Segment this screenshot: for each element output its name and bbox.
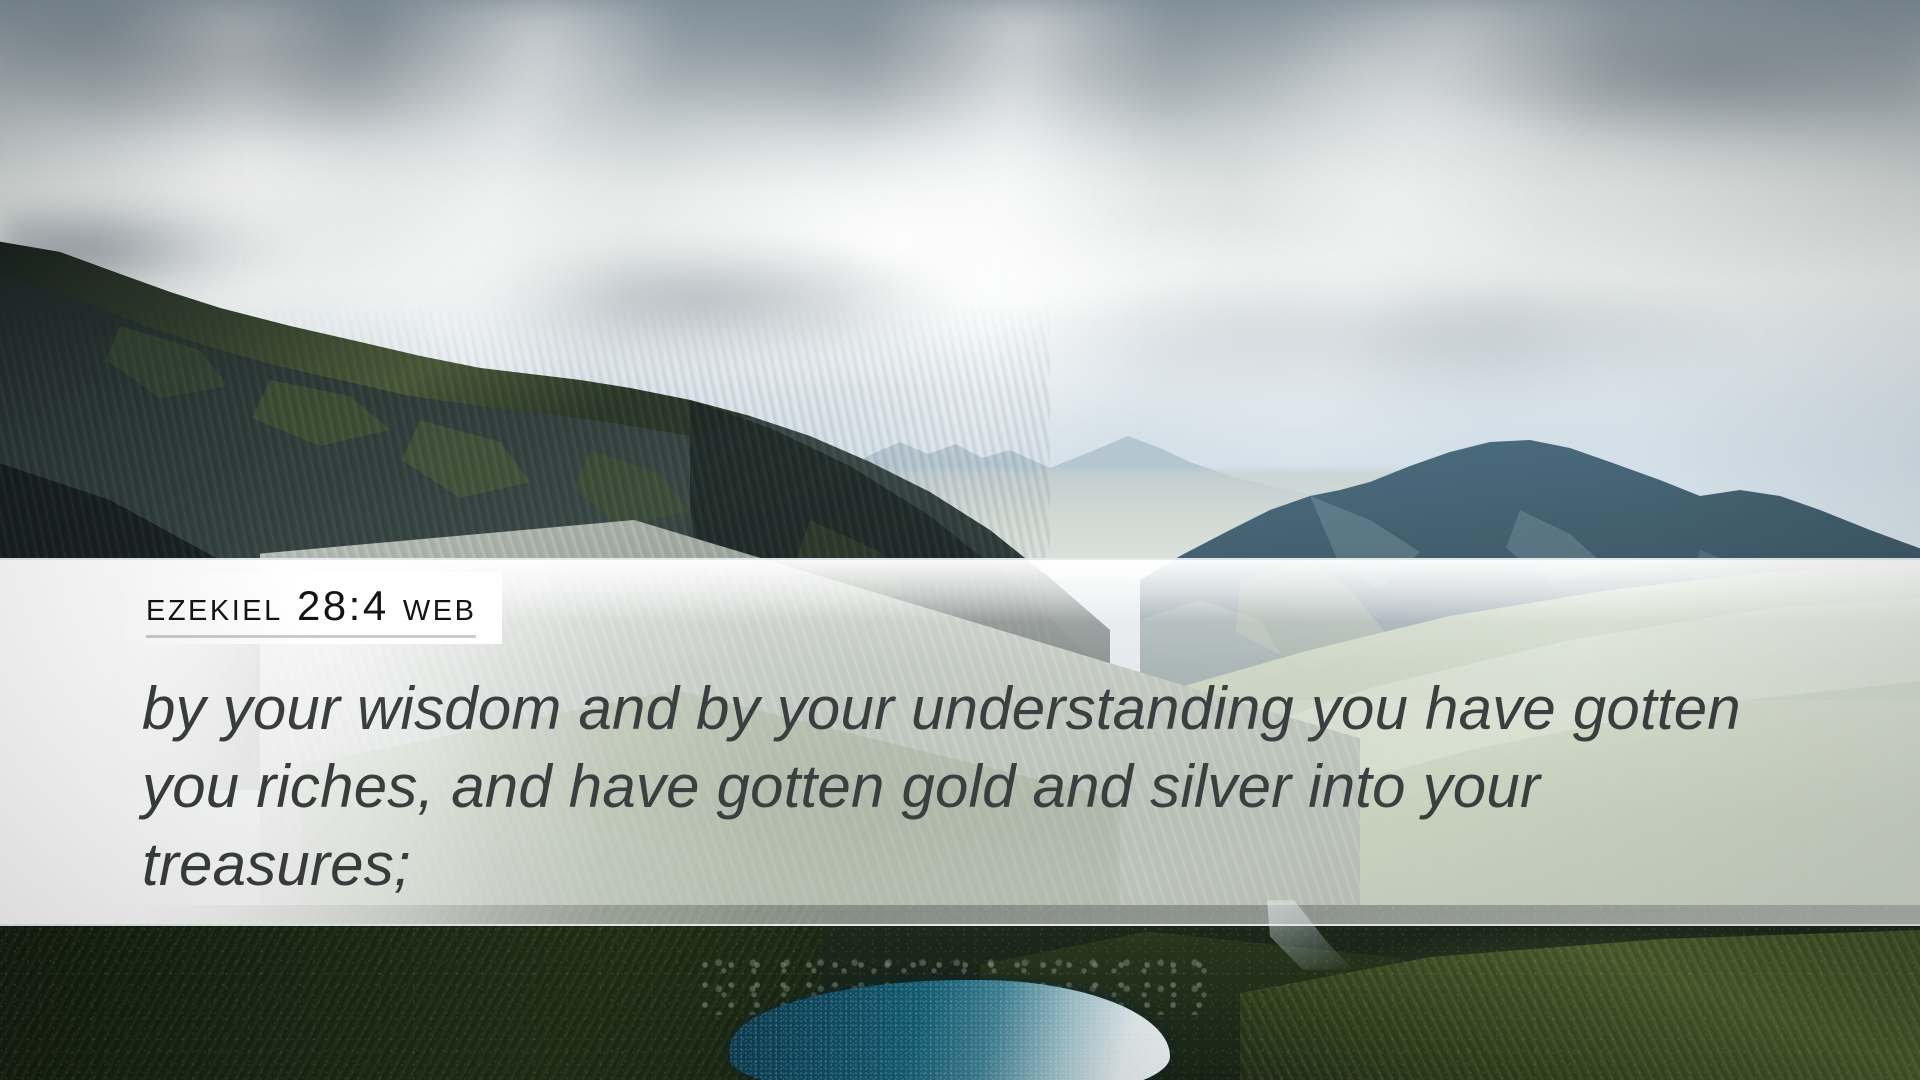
verse-reference-label: Ezekiel 28:4 WEB — [126, 572, 502, 644]
verse-image-canvas: Ezekiel 28:4 WEB by your wisdom and by y… — [0, 0, 1920, 1080]
verse-content: Ezekiel 28:4 WEB by your wisdom and by y… — [142, 572, 1860, 904]
verse-body-text: by your wisdom and by your understanding… — [142, 670, 1782, 904]
foreground-moss-left — [0, 905, 820, 1080]
verse-overlay-band: Ezekiel 28:4 WEB by your wisdom and by y… — [0, 558, 1920, 926]
verse-reference-text: Ezekiel 28:4 WEB — [146, 584, 476, 638]
